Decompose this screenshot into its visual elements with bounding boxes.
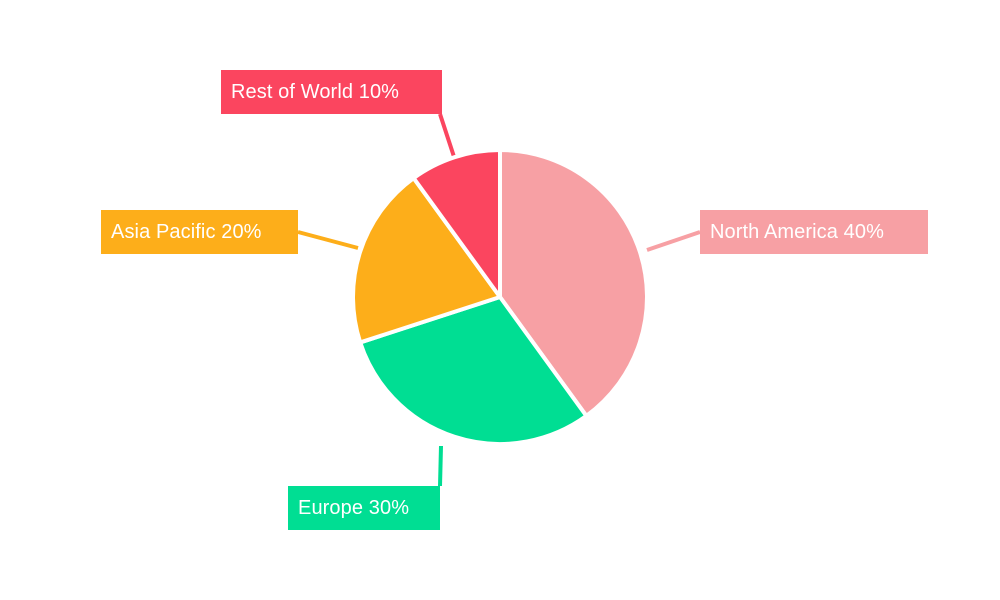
leader-line-north-america bbox=[647, 232, 700, 250]
pie-chart-figure: North America 40%Europe 30%Asia Pacific … bbox=[0, 0, 1000, 600]
leader-line-europe bbox=[440, 446, 441, 486]
pie-slices-group bbox=[353, 150, 647, 444]
slice-label-asia-pacific: Asia Pacific 20% bbox=[101, 210, 298, 254]
slice-label-north-america: North America 40% bbox=[700, 210, 928, 254]
slice-label-rest-of-world: Rest of World 10% bbox=[221, 70, 442, 114]
pie-chart-canvas bbox=[0, 0, 1000, 600]
leader-line-asia-pacific bbox=[298, 232, 358, 248]
slice-label-europe: Europe 30% bbox=[288, 486, 440, 530]
